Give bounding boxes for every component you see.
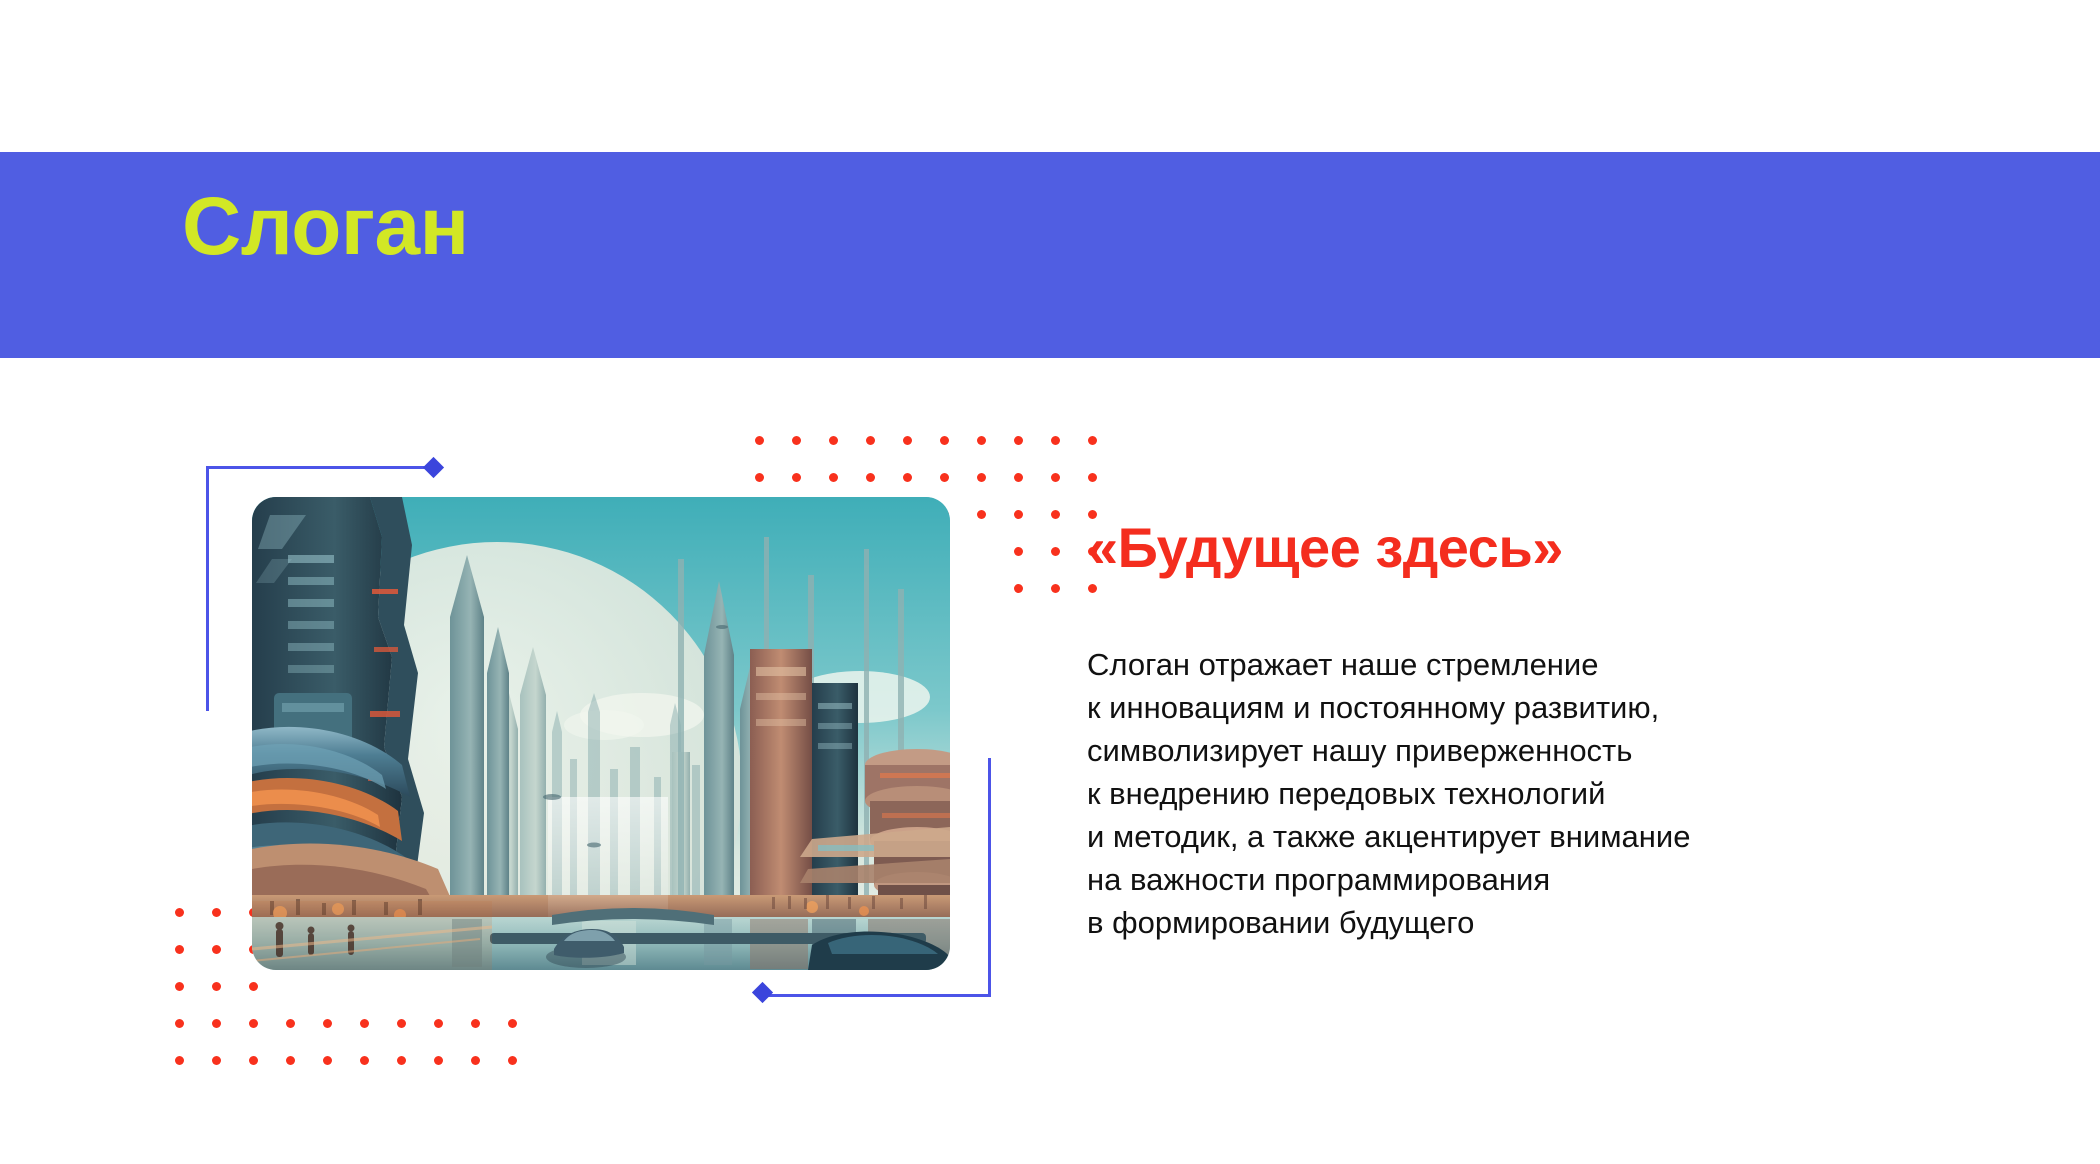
decorative-dot-hidden [323,982,332,991]
decorative-dot [1014,473,1023,482]
decorative-dot [249,982,258,991]
decorative-dot-hidden [434,982,443,991]
decorative-dot [175,1056,184,1065]
decorative-dot [434,1019,443,1028]
decorative-dot [792,473,801,482]
decorative-dot [212,982,221,991]
decorative-dot [1088,436,1097,445]
decorative-dot [903,473,912,482]
description-line: символизирует нашу приверженность [1087,729,1947,772]
decorative-dot [1051,436,1060,445]
decorative-dot-hidden [286,982,295,991]
decorative-dot [1051,510,1060,519]
decorative-dot [829,473,838,482]
decorative-dot-hidden [977,584,986,593]
decorative-dot-hidden [977,547,986,556]
decorative-dot [792,436,801,445]
decorative-dot [508,1056,517,1065]
decorative-diamond-bottom-right [752,982,773,1003]
decorative-dot [175,1019,184,1028]
decorative-dot [866,473,875,482]
decorative-dot [1088,584,1097,593]
decorative-dot [903,436,912,445]
slogan-description: Слоган отражает наше стремлениек инновац… [1087,643,1947,944]
decorative-dot [1014,547,1023,556]
decorative-dot [434,1056,443,1065]
decorative-dot [1014,584,1023,593]
description-line: к инновациям и постоянному развитию, [1087,686,1947,729]
decorative-dot [360,1019,369,1028]
decorative-dot-hidden [471,982,480,991]
decorative-dot [829,436,838,445]
decorative-dot [471,1056,480,1065]
decorative-dot [175,982,184,991]
decorative-dot [940,436,949,445]
decorative-dot [755,473,764,482]
dot-row [755,473,1097,482]
description-line: на важности программирования [1087,858,1947,901]
page-title: Слоган [182,186,469,268]
decorative-dot [175,908,184,917]
slogan-headline: «Будущее здесь» [1087,515,1563,580]
decorative-dot [977,473,986,482]
decorative-dot [508,1019,517,1028]
description-line: Слоган отражает наше стремление [1087,643,1947,686]
decorative-diamond-top-left [423,457,444,478]
decorative-dot [1051,473,1060,482]
decorative-dot [323,1056,332,1065]
decorative-dot [397,1056,406,1065]
decorative-dot-hidden [397,982,406,991]
decorative-dot [1014,436,1023,445]
decorative-dot [212,908,221,917]
decorative-dot [360,1056,369,1065]
decorative-dot [286,1056,295,1065]
decorative-dot [212,945,221,954]
decorative-dot [1051,584,1060,593]
decorative-dot-hidden [508,982,517,991]
description-line: в формировании будущего [1087,901,1947,944]
decorative-dot [249,1056,258,1065]
dot-row [175,982,517,991]
cityscape-illustration [252,497,950,970]
decorative-dot [977,436,986,445]
decorative-dot [212,1056,221,1065]
decorative-dot [977,510,986,519]
decorative-dot [249,1019,258,1028]
description-line: к внедрению передовых технологий [1087,772,1947,815]
dot-row [755,436,1097,445]
decorative-dot [323,1019,332,1028]
decorative-dot [397,1019,406,1028]
dot-row [175,1056,517,1065]
dot-row [175,1019,517,1028]
decorative-dot [1051,547,1060,556]
decorative-dot [175,945,184,954]
description-line: и методик, а также акцентирует внимание [1087,815,1947,858]
decorative-dot [1088,473,1097,482]
cityscape-illustration-art [252,497,950,970]
decorative-dot-hidden [360,982,369,991]
decorative-dot [1014,510,1023,519]
decorative-dot [286,1019,295,1028]
decorative-dot [866,436,875,445]
decorative-dot [940,473,949,482]
decorative-dot [471,1019,480,1028]
decorative-dot [212,1019,221,1028]
decorative-dot [755,436,764,445]
slide-root: Слоган [0,0,2100,1164]
